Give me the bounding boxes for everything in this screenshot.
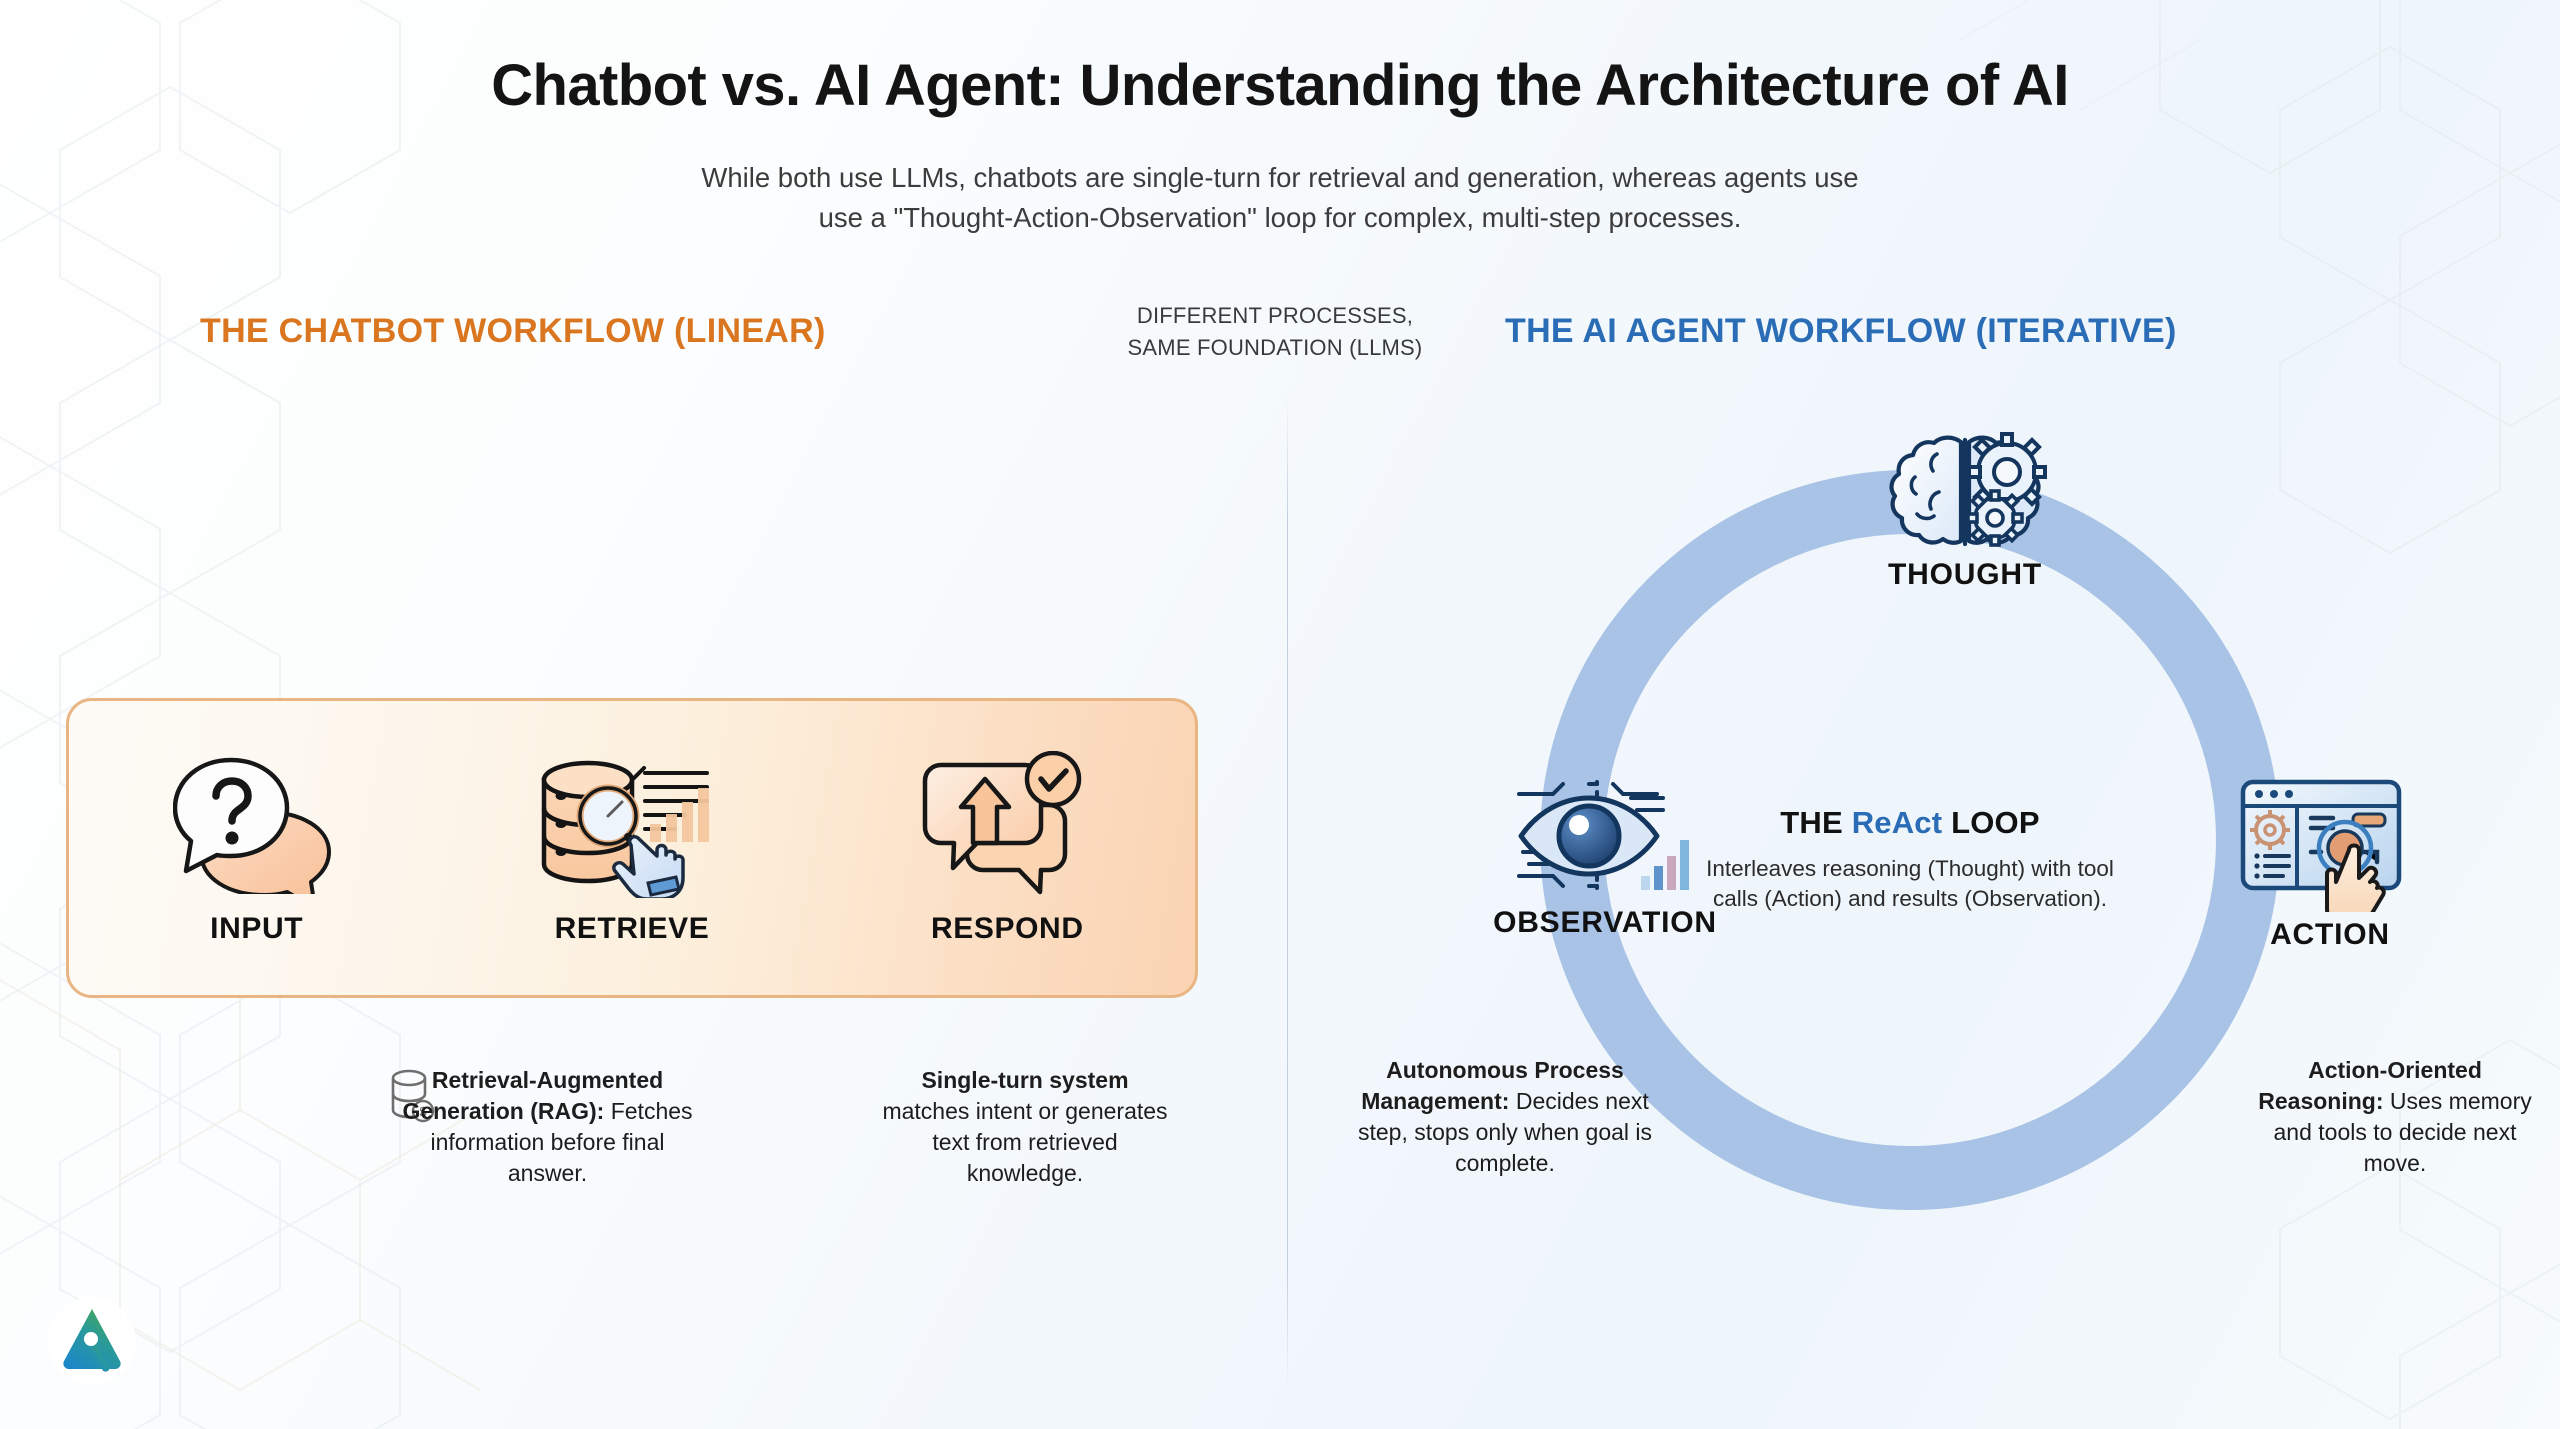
browser-click-cursor-icon: [2235, 772, 2425, 912]
loop-node-label: THOUGHT: [1888, 558, 2042, 592]
react-title-suffix: LOOP: [1942, 805, 2039, 840]
caption-single-turn-bold: Single-turn system: [921, 1067, 1128, 1093]
brain-gears-icon: [1865, 432, 2065, 552]
chatbot-section-heading: THE CHATBOT WORKFLOW (LINEAR): [200, 312, 826, 351]
loop-node-label: OBSERVATION: [1493, 906, 1717, 940]
infographic-canvas: Chatbot vs. AI Agent: Understanding the …: [0, 0, 2560, 1429]
chatbot-step-label: RETRIEVE: [555, 912, 710, 946]
speech-bubble-arrow-check-icon: [919, 750, 1095, 898]
section-divider: [1287, 398, 1288, 1388]
chatbot-workflow-panel: INPUT: [66, 698, 1198, 998]
caption-autonomous-process: Autonomous Process Management: Decides n…: [1355, 1055, 1655, 1179]
brand-logo[interactable]: [46, 1295, 138, 1387]
subtitle-line-1: While both use LLMs, chatbots are single…: [0, 158, 2560, 198]
agent-section-heading: THE AI AGENT WORKFLOW (ITERATIVE): [1505, 312, 2177, 351]
caption-single-turn: Single-turn system matches intent or gen…: [880, 1065, 1170, 1189]
loop-node-action[interactable]: ACTION: [2155, 772, 2505, 952]
eye-scan-chart-icon: [1501, 772, 1709, 900]
chatbot-step-retrieve[interactable]: RETRIEVE: [444, 701, 819, 995]
chatbot-step-label: INPUT: [210, 912, 303, 946]
chatbot-step-input[interactable]: INPUT: [69, 701, 444, 995]
react-loop-description: Interleaves reasoning (Thought) with too…: [1700, 854, 2120, 914]
chatbot-step-respond[interactable]: RESPOND: [820, 701, 1195, 995]
question-speech-bubble-icon: [173, 750, 341, 898]
caption-single-turn-text: matches intent or generates text from re…: [882, 1098, 1167, 1186]
subtitle-line-2: use a "Thought-Action-Observation" loop …: [0, 198, 2560, 238]
center-note-line-2: SAME FOUNDATION (LLMS): [1090, 332, 1460, 364]
react-loop-center: THE ReAct LOOP Interleaves reasoning (Th…: [1700, 805, 2120, 914]
page-title: Chatbot vs. AI Agent: Understanding the …: [0, 52, 2560, 119]
page-subtitle: While both use LLMs, chatbots are single…: [0, 158, 2560, 238]
loop-node-label: ACTION: [2270, 918, 2390, 952]
center-note-line-1: DIFFERENT PROCESSES,: [1090, 300, 1460, 332]
database-magnifier-cursor-icon: [532, 750, 732, 898]
react-loop-title: THE ReAct LOOP: [1700, 805, 2120, 841]
center-foundation-note: DIFFERENT PROCESSES, SAME FOUNDATION (LL…: [1090, 300, 1460, 364]
caption-rag: Retrieval-Augmented Generation (RAG): Fe…: [395, 1065, 700, 1189]
chatbot-step-label: RESPOND: [931, 912, 1084, 946]
loop-node-thought[interactable]: THOUGHT: [1790, 432, 2140, 592]
caption-action-oriented: Action-Oriented Reasoning: Uses memory a…: [2250, 1055, 2540, 1179]
react-title-accent: ReAct: [1852, 805, 1943, 840]
react-title-prefix: THE: [1780, 805, 1851, 840]
